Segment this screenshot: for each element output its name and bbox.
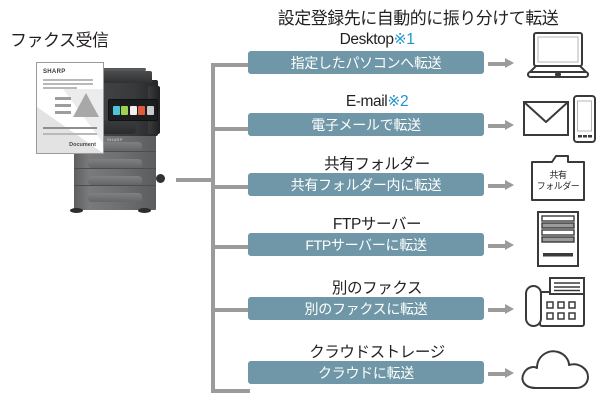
printer-side-knob <box>156 174 165 183</box>
server-rack-icon <box>516 210 600 268</box>
flow-arrow <box>488 120 514 130</box>
fax-routing-diagram: ファクス受信 SHARP SHARP <box>0 0 600 410</box>
paper-drawer <box>88 176 142 185</box>
document-chart-shape <box>73 93 99 117</box>
document-text-line <box>43 87 77 89</box>
route-title-email: E-mail※2 <box>248 92 506 111</box>
route-row-desktop: Desktop※1 指定したパソコンへ転送 <box>248 30 600 88</box>
document-text-line <box>43 83 93 85</box>
route-title-text: 別のファクス <box>332 280 422 297</box>
route-action-label: 電子メールで転送 <box>311 115 421 135</box>
paper-drawer <box>88 193 142 202</box>
document-bar <box>55 111 71 114</box>
panel-key <box>121 106 128 115</box>
document-caption: Document <box>69 142 96 148</box>
route-action-label: 指定したパソコンへ転送 <box>291 53 442 73</box>
printer-caster <box>138 208 151 213</box>
route-action-label: FTPサーバーに転送 <box>305 235 426 255</box>
flow-arrow <box>488 304 514 314</box>
document-text-line <box>43 79 93 81</box>
route-action-email[interactable]: 電子メールで転送 <box>248 113 484 136</box>
laptop-icon <box>516 28 600 86</box>
route-title-desktop: Desktop※1 <box>248 30 506 49</box>
route-row-shared-folder: 共有フォルダー 共有フォルダー内に転送 共有 フォルダー <box>248 152 600 210</box>
route-action-cloud-storage[interactable]: クラウドに転送 <box>248 361 484 384</box>
route-title-ftp-server: FTPサーバー <box>248 212 506 234</box>
document-brand-logo: SHARP <box>43 69 66 75</box>
document-text-line <box>43 127 97 129</box>
connector-branch <box>213 127 250 131</box>
route-action-ftp-server[interactable]: FTPサーバーに転送 <box>248 233 484 256</box>
connector-stem <box>176 178 213 182</box>
route-action-label: 共有フォルダー内に転送 <box>291 175 442 195</box>
panel-key <box>147 106 154 115</box>
folder-label-line1: 共有 <box>516 170 600 180</box>
cabinet-seam <box>74 185 156 186</box>
footnote-mark: ※1 <box>394 31 415 48</box>
route-action-another-fax[interactable]: 別のファクスに転送 <box>248 297 484 320</box>
printer-control-panel <box>108 99 158 121</box>
connector-branch <box>213 63 250 67</box>
panel-key <box>113 106 120 115</box>
connector-branch <box>213 185 250 189</box>
printer-caster <box>70 208 83 213</box>
route-title-text: FTPサーバー <box>333 216 421 233</box>
flow-arrow <box>488 58 514 68</box>
cloud-icon <box>516 338 600 396</box>
folder-label-line2: フォルダー <box>516 181 600 191</box>
envelope-smartphone-icon <box>516 90 600 148</box>
connector-branch <box>213 308 250 312</box>
flow-arrow <box>488 240 514 250</box>
flow-arrow <box>488 368 514 378</box>
route-action-label: 別のファクスに転送 <box>305 299 428 319</box>
route-title-cloud-storage: クラウドストレージ <box>248 340 506 362</box>
received-document-sheet: SHARP Document <box>36 62 104 154</box>
route-action-label: クラウドに転送 <box>318 363 414 383</box>
panel-key <box>130 106 137 115</box>
panel-key <box>138 106 145 115</box>
footnote-mark: ※2 <box>387 93 408 110</box>
connector-trunk <box>211 63 215 393</box>
route-action-desktop[interactable]: 指定したパソコンへ転送 <box>248 51 484 74</box>
fax-machine-icon <box>516 274 600 332</box>
paper-drawer <box>88 159 142 168</box>
route-title-text: 共有フォルダー <box>324 156 430 173</box>
document-bar <box>55 97 71 100</box>
connector-branch <box>213 245 250 249</box>
route-title-another-fax: 別のファクス <box>248 276 506 298</box>
document-bar <box>55 104 71 107</box>
document-text-line <box>43 133 97 135</box>
cabinet-seam <box>74 168 156 169</box>
route-row-another-fax: 別のファクス 別のファクスに転送 <box>248 276 600 334</box>
route-row-cloud-storage: クラウドストレージ クラウドに転送 <box>248 340 600 398</box>
route-action-shared-folder[interactable]: 共有フォルダー内に転送 <box>248 173 484 196</box>
route-row-ftp-server: FTPサーバー FTPサーバーに転送 <box>248 212 600 270</box>
flow-arrow <box>488 180 514 190</box>
route-row-email: E-mail※2 電子メールで転送 <box>248 92 600 150</box>
connector-branch <box>213 389 250 393</box>
shared-folder-icon: 共有 フォルダー <box>516 150 600 208</box>
route-title-text: クラウドストレージ <box>309 344 445 361</box>
route-title-shared-folder: 共有フォルダー <box>248 152 506 174</box>
route-title-text: E-mail <box>346 93 388 110</box>
route-title-text: Desktop <box>340 31 394 48</box>
fax-receive-label: ファクス受信 <box>10 26 109 51</box>
page-title: 設定登録先に自動的に振り分けて転送 <box>236 4 600 29</box>
